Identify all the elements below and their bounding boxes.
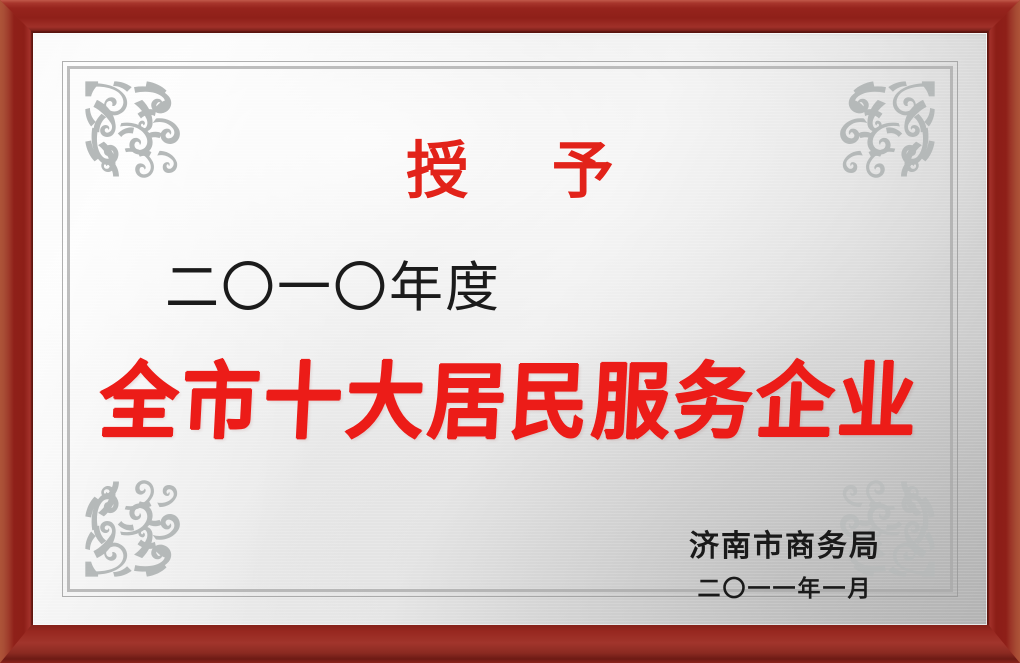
frame-bottom-rail [0,623,1020,663]
award-plaque: 授 予 二〇一〇年度 全市十大居民服务企业 济南市商务局 二〇一一年一月 [0,0,1020,663]
award-title: 全市十大居民服务企业 [33,361,987,445]
award-year-line: 二〇一〇年度 [165,261,501,315]
metal-plate: 授 予 二〇一〇年度 全市十大居民服务企业 济南市商务局 二〇一一年一月 [33,33,987,625]
issuing-organization: 济南市商务局 [689,528,881,566]
issue-date: 二〇一一年一月 [689,576,881,604]
frame-right-rail [987,0,1020,663]
award-verb: 授 予 [33,141,987,203]
frame-top-rail [0,0,1020,33]
frame-left-rail [0,0,33,663]
inscription: 授 予 二〇一〇年度 全市十大居民服务企业 济南市商务局 二〇一一年一月 [33,33,987,625]
signature-block: 济南市商务局 二〇一一年一月 [689,528,881,603]
